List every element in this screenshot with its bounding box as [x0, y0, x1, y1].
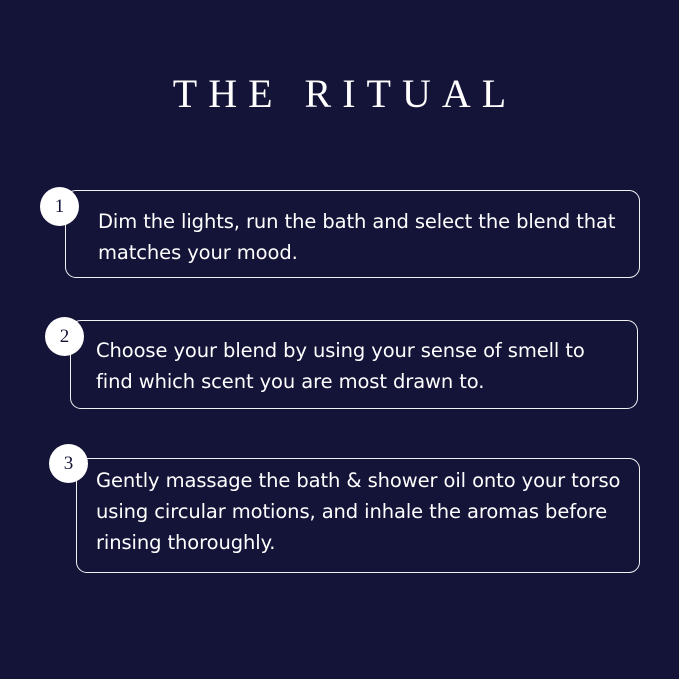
ritual-infographic: THE RITUAL Dim the lights, run the bath …: [0, 0, 679, 679]
step-number-badge: 1: [40, 187, 79, 226]
step-text: Gently massage the bath & shower oil ont…: [96, 465, 626, 558]
step-number-badge: 3: [49, 444, 88, 483]
step-text: Choose your blend by using your sense of…: [96, 335, 626, 397]
step-number-badge: 2: [45, 317, 84, 356]
step-text: Dim the lights, run the bath and select …: [98, 206, 628, 268]
steps-list: Dim the lights, run the bath and select …: [0, 0, 679, 679]
